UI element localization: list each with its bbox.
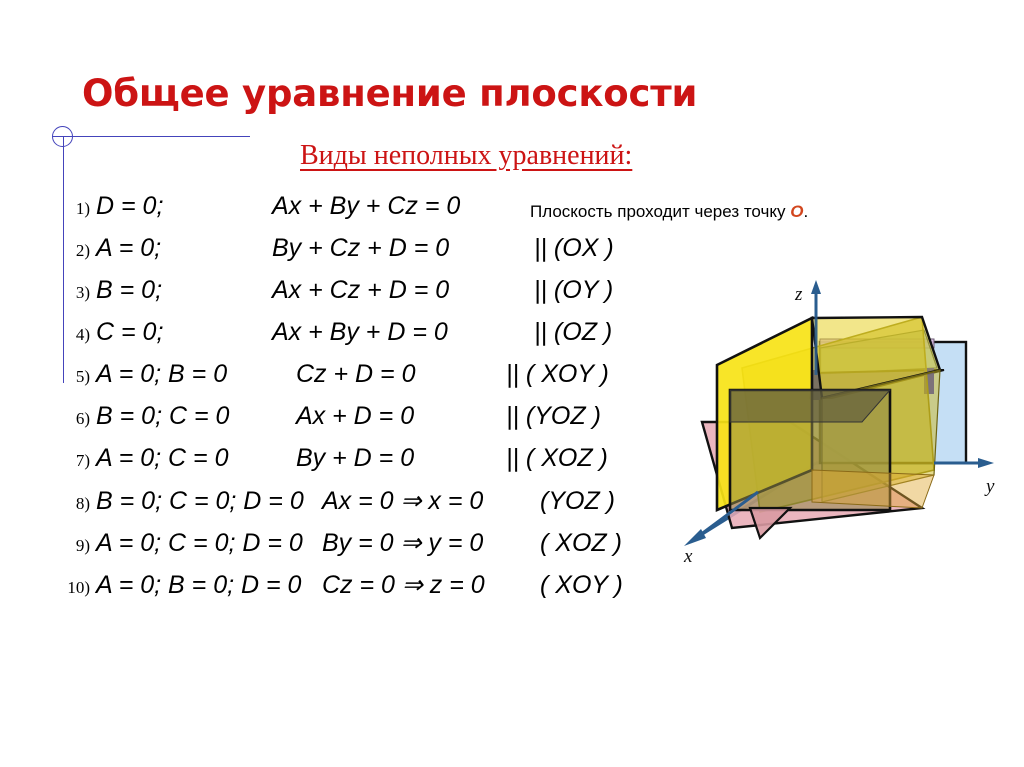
list-item: 4) C = 0; Ax + By + D = 0 || (OZ ) [56,318,756,360]
equation-index: 6) [56,409,96,429]
orange-plane-sliver [812,470,934,508]
equation-index: 2) [56,241,96,261]
equation-note: || ( XOZ ) [506,444,608,473]
equation-index: 9) [56,536,96,556]
equation-condition: B = 0; C = 0 [96,402,296,431]
equation-index: 4) [56,325,96,345]
equation-condition: A = 0; C = 0; D = 0 [96,529,322,558]
page-title: Общее уравнение плоскости [82,72,782,115]
equation-note: || ( XOY ) [506,360,609,389]
list-item: 5) A = 0; B = 0 Cz + D = 0 || ( XOY ) [56,360,756,402]
decorative-horizontal-rule [52,136,250,137]
equation-expression: Cz + D = 0 [296,360,506,389]
list-item: 9) A = 0; C = 0; D = 0 By = 0 ⇒ y = 0 ( … [56,528,756,570]
equation-condition: B = 0; C = 0; D = 0 [96,487,322,516]
equation-expression: Cz = 0 ⇒ z = 0 [322,570,540,600]
equation-condition: A = 0; B = 0 [96,360,296,389]
equation-index: 5) [56,367,96,387]
equation-expression: By + Cz + D = 0 [272,234,534,263]
incomplete-equation-list: 1) D = 0; Ax + By + Cz = 0 2) A = 0; By … [56,192,756,612]
list-item: 8) B = 0; C = 0; D = 0 Ax = 0 ⇒ x = 0 (Y… [56,486,756,528]
equation-condition: A = 0; [96,234,272,263]
list-item: 7) A = 0; C = 0 By + D = 0 || ( XOZ ) [56,444,756,486]
equation-note: || (YOZ ) [506,402,601,431]
equation-note: || (OY ) [534,276,613,305]
list-item: 1) D = 0; Ax + By + Cz = 0 [56,192,756,234]
list-item: 10) A = 0; B = 0; D = 0 Cz = 0 ⇒ z = 0 (… [56,570,756,612]
equation-condition: B = 0; [96,276,272,305]
equation-index: 1) [56,199,96,219]
list-item: 2) A = 0; By + Cz + D = 0 || (OX ) [56,234,756,276]
equation-index: 7) [56,451,96,471]
equation-condition: C = 0; [96,318,272,347]
equation-expression: Ax + D = 0 [296,402,506,431]
list-item: 6) B = 0; C = 0 Ax + D = 0 || (YOZ ) [56,402,756,444]
equation-condition: D = 0; [96,192,272,221]
equation-note: ( XOY ) [540,571,623,600]
list-item: 3) B = 0; Ax + Cz + D = 0 || (OY ) [56,276,756,318]
slide-canvas: Общее уравнение плоскости Виды неполных … [0,0,1024,767]
coordinate-planes-diagram: z y x [672,270,1024,580]
equation-expression: Ax + Cz + D = 0 [272,276,534,305]
section-subtitle: Виды неполных уравнений: [300,140,632,172]
equation-note: || (OZ ) [534,318,612,347]
remark-point-label: O [790,202,803,221]
equation-index: 8) [56,494,96,514]
equation-expression: Ax + By + D = 0 [272,318,534,347]
equation-condition: A = 0; B = 0; D = 0 [96,571,322,600]
remark-text-after: . [803,202,808,221]
z-axis-label: z [794,284,803,305]
equation-note: || (OX ) [534,234,614,263]
y-axis-label: y [984,476,995,497]
equation-note: ( XOZ ) [540,529,622,558]
equation-condition: A = 0; C = 0 [96,444,296,473]
decorative-circle-icon [52,126,73,147]
equation-expression: Ax + By + Cz = 0 [272,192,534,221]
equation-expression: By + D = 0 [296,444,506,473]
equation-expression: Ax = 0 ⇒ x = 0 [322,486,540,516]
x-axis-label: x [683,546,693,567]
equation-index: 3) [56,283,96,303]
equation-index: 10) [56,578,96,598]
equation-note: (YOZ ) [540,487,615,516]
equation-expression: By = 0 ⇒ y = 0 [322,528,540,558]
diagram-svg: z y x [672,270,1024,580]
